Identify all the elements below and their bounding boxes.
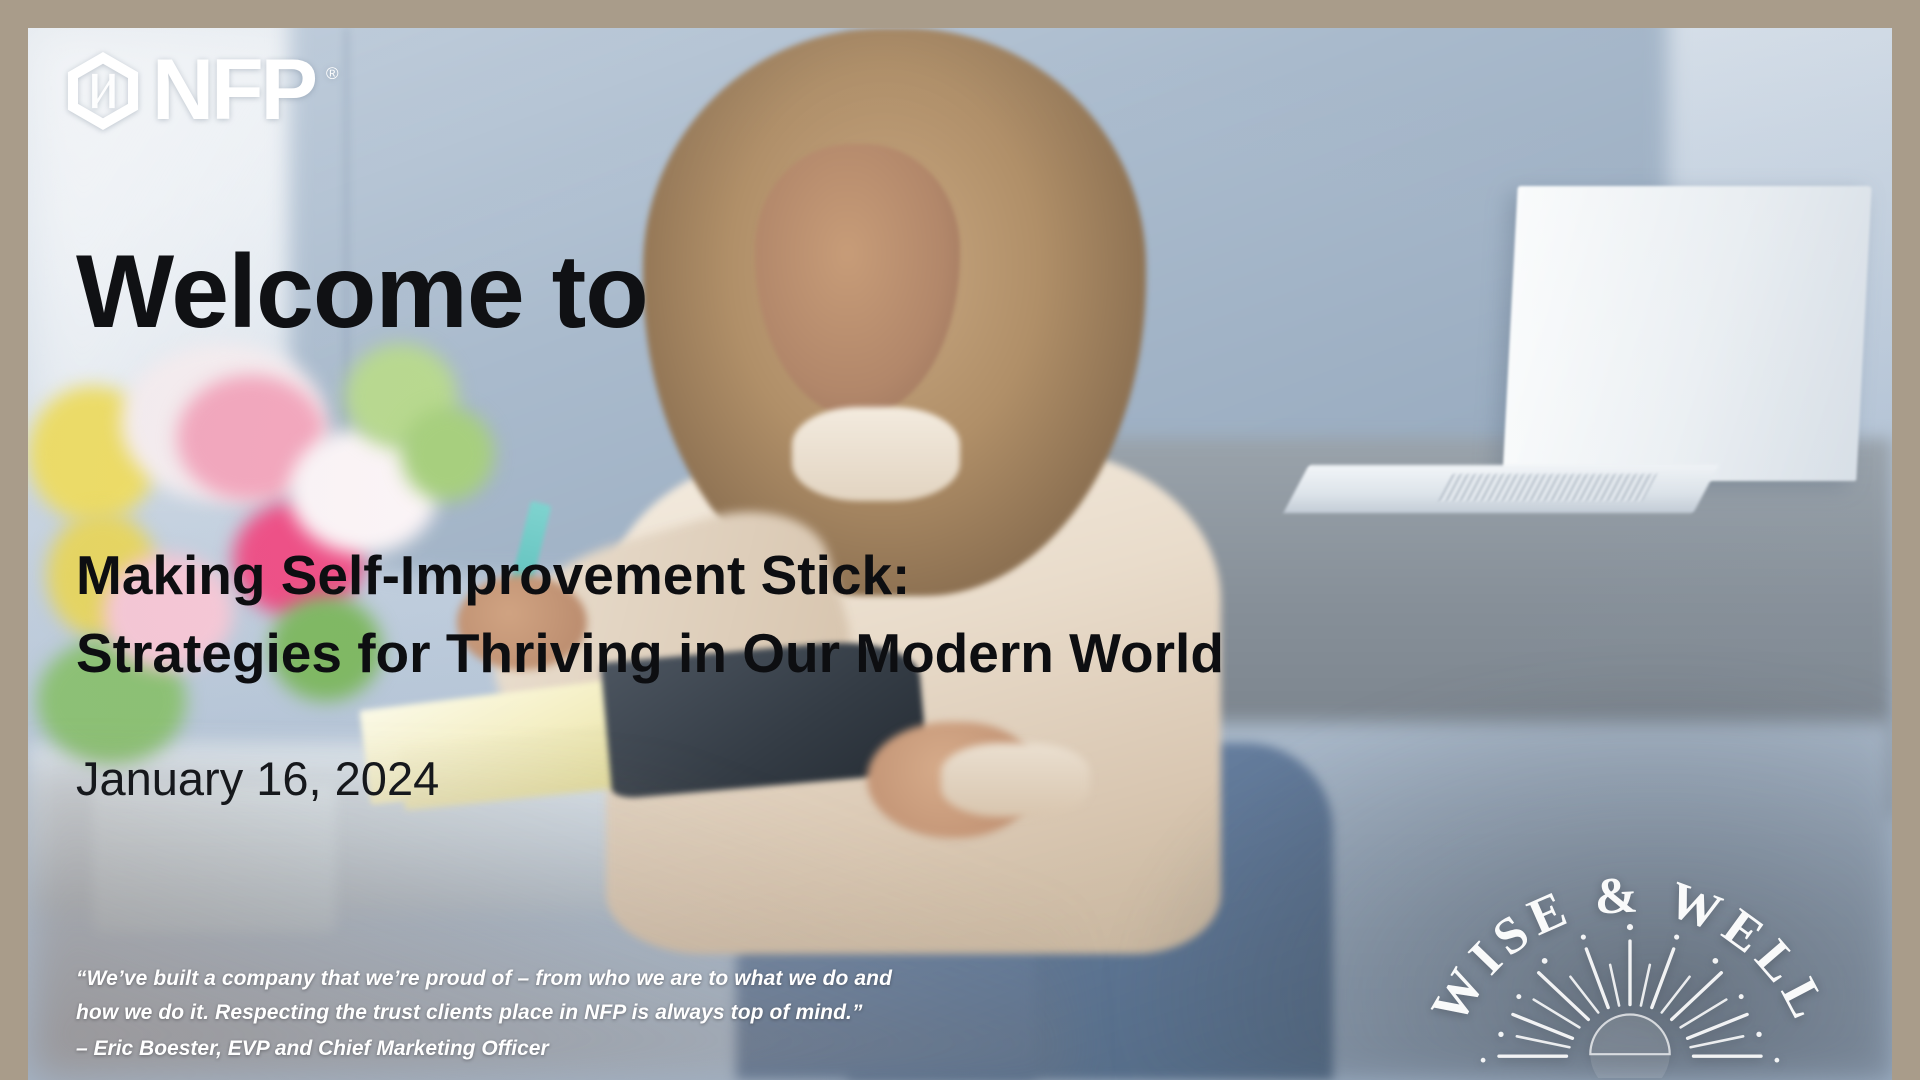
subtitle-line-1: Making Self-Improvement Stick: [76, 536, 1224, 614]
registered-trademark-symbol: ® [326, 64, 339, 84]
quote-attribution: – Eric Boester, EVP and Chief Marketing … [76, 1032, 936, 1066]
slide-frame: NFP ® Welcome to Making Self-Improvement… [0, 0, 1920, 1080]
event-date: January 16, 2024 [76, 751, 439, 806]
quote-line-2: how we do it. Respecting the trust clien… [76, 996, 936, 1030]
quote-line-1: “We’ve built a company that we’re proud … [76, 962, 936, 996]
photo-background: NFP ® Welcome to Making Self-Improvement… [28, 28, 1892, 1080]
sunburst-rays-icon: WISE & WELL [1420, 810, 1840, 1078]
nfp-hexagon-n-icon [64, 50, 142, 132]
company-quote: “We’ve built a company that we’re proud … [76, 962, 936, 1066]
session-subtitle: Making Self-Improvement Stick: Strategie… [76, 536, 1224, 692]
slide-content-layer: NFP ® Welcome to Making Self-Improvement… [28, 28, 1892, 1080]
subtitle-line-2: Strategies for Thriving in Our Modern Wo… [76, 614, 1224, 692]
nfp-wordmark: NFP [152, 53, 315, 129]
nfp-logo: NFP ® [64, 50, 339, 132]
wise-and-well-badge: WISE & WELL [1420, 810, 1840, 1078]
page-title: Welcome to [76, 240, 648, 344]
